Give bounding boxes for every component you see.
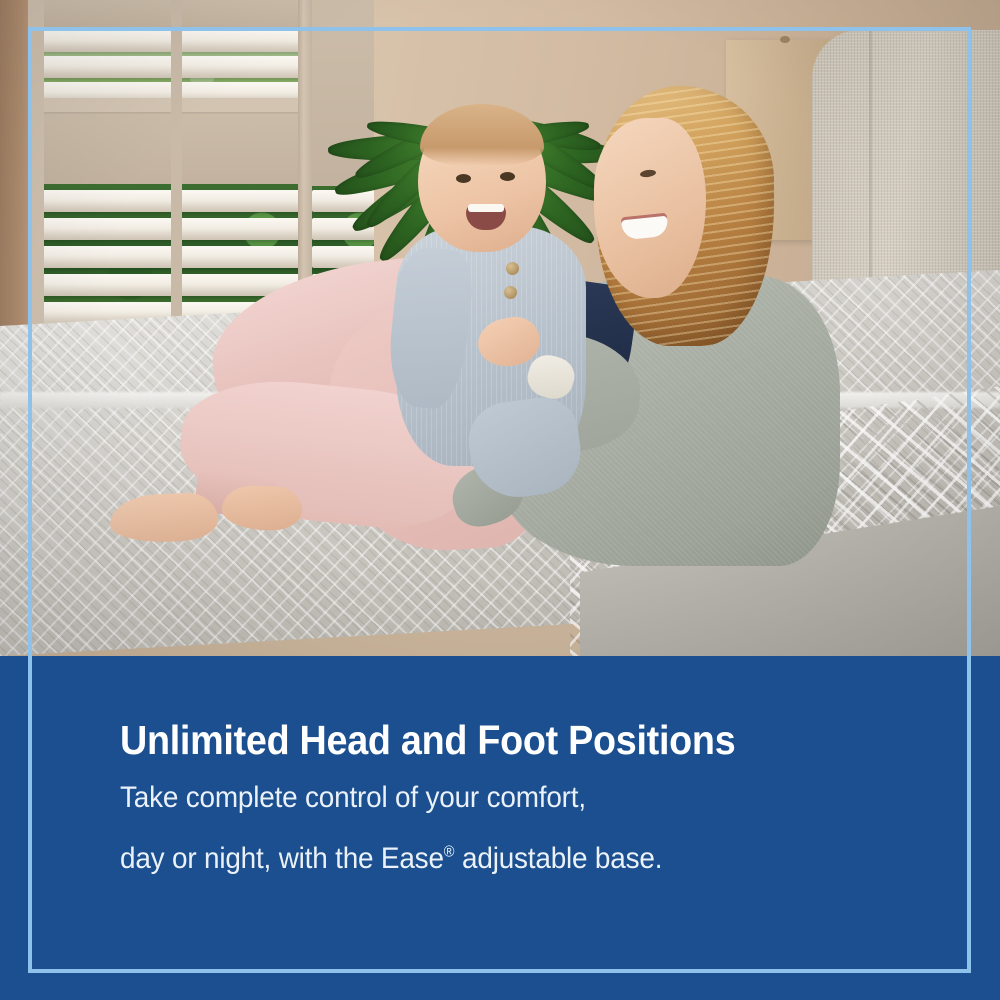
baby-eye [500, 172, 515, 181]
caption-panel: Unlimited Head and Foot Positions Take c… [0, 656, 1000, 1000]
baby-teeth [468, 204, 504, 212]
baby-button [504, 286, 517, 299]
headline: Unlimited Head and Foot Positions [120, 718, 856, 762]
baby-hair [420, 104, 544, 166]
banner-stage: Unlimited Head and Foot Positions Take c… [0, 0, 1000, 1000]
subheadline-line-2: day or night, with the Ease® adjustable … [120, 835, 864, 884]
subheadline-line-1: Take complete control of your comfort, [120, 774, 864, 823]
baby-eye [456, 174, 471, 183]
subheadline-line-2-after: adjustable base. [454, 842, 662, 875]
registered-trademark-icon: ® [444, 843, 455, 860]
baby [0, 0, 1000, 656]
baby-button [506, 262, 519, 275]
lifestyle-photo [0, 0, 1000, 656]
subheadline-line-2-before: day or night, with the Ease [120, 842, 444, 875]
caption-content: Unlimited Head and Foot Positions Take c… [120, 718, 920, 883]
